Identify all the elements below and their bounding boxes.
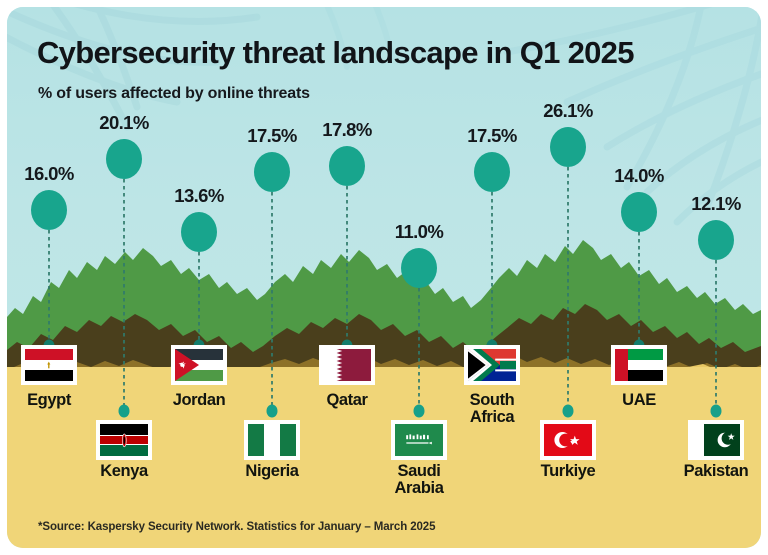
flag-artwork-south-africa <box>468 349 516 381</box>
value-bubble-south-africa[interactable] <box>474 152 510 192</box>
country-label-pakistan: Pakistan <box>684 463 749 480</box>
country-label-kenya: Kenya <box>100 463 148 480</box>
leader-line-kenya <box>123 179 125 405</box>
leader-line-turkiye <box>567 167 569 405</box>
value-label-jordan: 13.6% <box>174 185 223 207</box>
value-label-qatar: 17.8% <box>322 119 371 141</box>
flag-artwork-saudi-arabia <box>395 424 443 456</box>
country-label-nigeria: Nigeria <box>245 463 298 480</box>
flag-artwork-qatar <box>323 349 371 381</box>
leader-line-egypt <box>48 230 50 340</box>
value-bubble-nigeria[interactable] <box>254 152 290 192</box>
flag-artwork-uae <box>615 349 663 381</box>
flag-artwork-turkiye <box>544 424 592 456</box>
flag-egypt[interactable] <box>23 347 75 383</box>
leader-line-uae <box>638 232 640 340</box>
value-bubble-qatar[interactable] <box>329 146 365 186</box>
value-bubble-pakistan[interactable] <box>698 220 734 260</box>
anchor-dot-saudi-arabia <box>414 405 425 418</box>
leader-line-south-africa <box>491 192 493 340</box>
value-bubble-saudi-arabia[interactable] <box>401 248 437 288</box>
flag-artwork-nigeria <box>248 424 296 456</box>
page-subtitle: % of users affected by online threats <box>38 85 310 103</box>
flag-artwork-jordan <box>175 349 223 381</box>
flag-kenya[interactable] <box>98 422 150 458</box>
country-label-south-africa: South Africa <box>470 392 515 426</box>
leader-line-saudi-arabia <box>418 288 420 405</box>
leader-line-jordan <box>198 252 200 340</box>
flag-jordan[interactable] <box>173 347 225 383</box>
country-label-jordan: Jordan <box>173 392 226 409</box>
value-label-pakistan: 12.1% <box>691 193 740 215</box>
flag-qatar[interactable] <box>321 347 373 383</box>
page-title: Cybersecurity threat landscape in Q1 202… <box>37 35 634 71</box>
flag-nigeria[interactable] <box>246 422 298 458</box>
flag-saudi-arabia[interactable] <box>393 422 445 458</box>
value-label-saudi-arabia: 11.0% <box>395 221 443 243</box>
flag-artwork-kenya <box>100 424 148 456</box>
anchor-dot-turkiye <box>563 405 574 418</box>
anchor-dot-kenya <box>119 405 130 418</box>
value-label-egypt: 16.0% <box>24 163 73 185</box>
value-bubble-kenya[interactable] <box>106 139 142 179</box>
flag-pakistan[interactable] <box>690 422 742 458</box>
flag-turkiye[interactable] <box>542 422 594 458</box>
leader-line-nigeria <box>271 192 273 405</box>
value-label-uae: 14.0% <box>614 165 663 187</box>
country-label-egypt: Egypt <box>27 392 71 409</box>
value-bubble-turkiye[interactable] <box>550 127 586 167</box>
flag-artwork-egypt <box>25 349 73 381</box>
source-note: *Source: Kaspersky Security Network. Sta… <box>38 521 435 533</box>
anchor-dot-nigeria <box>267 405 278 418</box>
flag-south-africa[interactable] <box>466 347 518 383</box>
value-bubble-egypt[interactable] <box>31 190 67 230</box>
infographic-card: Cybersecurity threat landscape in Q1 202… <box>7 7 761 548</box>
leader-line-qatar <box>346 186 348 340</box>
value-bubble-uae[interactable] <box>621 192 657 232</box>
country-label-uae: UAE <box>622 392 656 409</box>
flag-uae[interactable] <box>613 347 665 383</box>
country-label-turkiye: Turkiye <box>541 463 596 480</box>
value-label-turkiye: 26.1% <box>543 100 592 122</box>
flag-artwork-pakistan <box>692 424 740 456</box>
value-label-nigeria: 17.5% <box>247 125 296 147</box>
country-label-qatar: Qatar <box>326 392 367 409</box>
anchor-dot-pakistan <box>711 405 722 418</box>
leader-line-pakistan <box>715 260 717 405</box>
value-label-kenya: 20.1% <box>99 112 148 134</box>
value-bubble-jordan[interactable] <box>181 212 217 252</box>
country-label-saudi-arabia: Saudi Arabia <box>395 463 444 497</box>
value-label-south-africa: 17.5% <box>467 125 516 147</box>
